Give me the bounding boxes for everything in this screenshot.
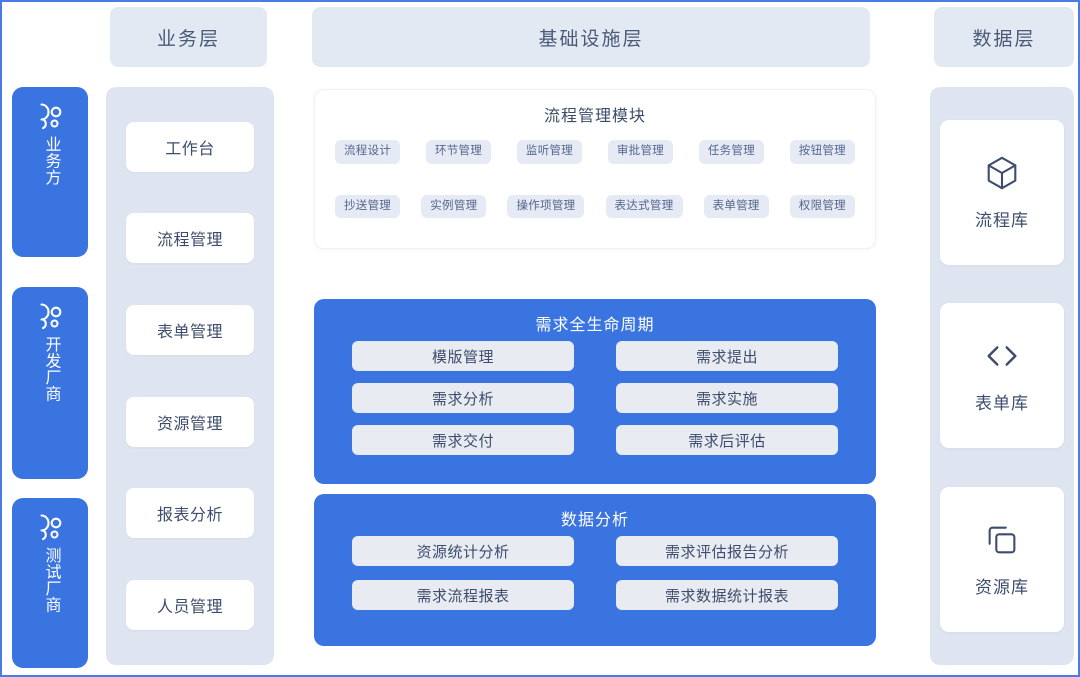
process-chip-row-1: 流程设计 环节管理 监听管理 审批管理 任务管理 按钮管理 [315,140,875,164]
process-chip-row-2: 抄送管理 实例管理 操作项管理 表达式管理 表单管理 权限管理 [315,195,875,219]
lifecycle-title: 需求全生命周期 [314,299,876,335]
chip-button-mgmt[interactable]: 按钮管理 [790,140,855,164]
chip-approval-mgmt[interactable]: 审批管理 [608,140,673,164]
process-management-module-card: 流程管理模块 流程设计 环节管理 监听管理 审批管理 任务管理 按钮管理 抄送管… [314,89,876,249]
actor-label: 测试厂商 [41,547,60,613]
code-brackets-icon [983,337,1021,375]
business-item-personnel-mgmt[interactable]: 人员管理 [126,580,254,630]
analytics-item-data-statistics-report[interactable]: 需求数据统计报表 [616,580,838,610]
actor-label: 业务方 [41,136,60,186]
data-item-label: 表单库 [975,389,1029,414]
data-layer-panel: 流程库 表单库 资源库 [930,87,1074,665]
lifecycle-item-requirement-submit[interactable]: 需求提出 [616,341,838,371]
copy-squares-icon [983,521,1021,559]
chip-task-mgmt[interactable]: 任务管理 [699,140,764,164]
users-icon [33,512,67,542]
business-layer-panel: 工作台 流程管理 表单管理 资源管理 报表分析 人员管理 [106,87,274,665]
users-icon [33,301,67,331]
analytics-title: 数据分析 [314,494,876,530]
architecture-diagram: 业务方 开发厂商 测试厂商 [0,0,1080,677]
lifecycle-item-post-evaluation[interactable]: 需求后评估 [616,425,838,455]
chip-instance-mgmt[interactable]: 实例管理 [421,195,486,219]
lifecycle-item-requirement-implementation[interactable]: 需求实施 [616,383,838,413]
infrastructure-layer-column: 流程管理模块 流程设计 环节管理 监听管理 审批管理 任务管理 按钮管理 抄送管… [286,74,886,674]
lifecycle-item-requirement-analysis[interactable]: 需求分析 [352,383,574,413]
analytics-item-resource-statistics[interactable]: 资源统计分析 [352,536,574,566]
chip-process-design[interactable]: 流程设计 [335,140,400,164]
analytics-item-evaluation-report[interactable]: 需求评估报告分析 [616,536,838,566]
analytics-item-process-report[interactable]: 需求流程报表 [352,580,574,610]
data-item-label: 资源库 [975,573,1029,598]
lifecycle-item-requirement-delivery[interactable]: 需求交付 [352,425,574,455]
data-item-process-library[interactable]: 流程库 [940,120,1064,265]
chip-cc-mgmt[interactable]: 抄送管理 [335,195,400,219]
actor-rail: 业务方 开发厂商 测试厂商 [12,2,96,677]
business-item-report-analysis[interactable]: 报表分析 [126,488,254,538]
chip-form-mgmt[interactable]: 表单管理 [704,195,769,219]
users-icon [33,101,67,131]
requirement-lifecycle-panel: 需求全生命周期 模版管理 需求提出 需求分析 需求实施 需求交付 需求后评估 [314,299,876,484]
chip-expression-mgmt[interactable]: 表达式管理 [606,195,683,219]
header-business-layer: 业务层 [110,7,267,67]
chip-listener-mgmt[interactable]: 监听管理 [517,140,582,164]
chip-permission-mgmt[interactable]: 权限管理 [790,195,855,219]
actor-label: 开发厂商 [41,336,60,402]
lifecycle-item-template-mgmt[interactable]: 模版管理 [352,341,574,371]
cube-icon [983,154,1021,192]
analytics-items-grid: 资源统计分析 需求评估报告分析 需求流程报表 需求数据统计报表 [314,536,876,610]
chip-node-mgmt[interactable]: 环节管理 [426,140,491,164]
business-item-workbench[interactable]: 工作台 [126,122,254,172]
business-item-resource-mgmt[interactable]: 资源管理 [126,397,254,447]
actor-card-test-vendor[interactable]: 测试厂商 [12,498,88,668]
actor-card-business[interactable]: 业务方 [12,87,88,257]
chip-operation-item-mgmt[interactable]: 操作项管理 [507,195,584,219]
business-item-form-mgmt[interactable]: 表单管理 [126,305,254,355]
header-infrastructure-layer: 基础设施层 [312,7,870,67]
header-data-layer: 数据层 [934,7,1074,67]
data-item-label: 流程库 [975,206,1029,231]
data-analytics-panel: 数据分析 资源统计分析 需求评估报告分析 需求流程报表 需求数据统计报表 [314,494,876,646]
actor-card-dev-vendor[interactable]: 开发厂商 [12,287,88,479]
business-item-process-mgmt[interactable]: 流程管理 [126,213,254,263]
lifecycle-items-grid: 模版管理 需求提出 需求分析 需求实施 需求交付 需求后评估 [314,341,876,455]
data-item-form-library[interactable]: 表单库 [940,303,1064,448]
process-module-title: 流程管理模块 [315,102,875,126]
data-item-resource-library[interactable]: 资源库 [940,487,1064,632]
